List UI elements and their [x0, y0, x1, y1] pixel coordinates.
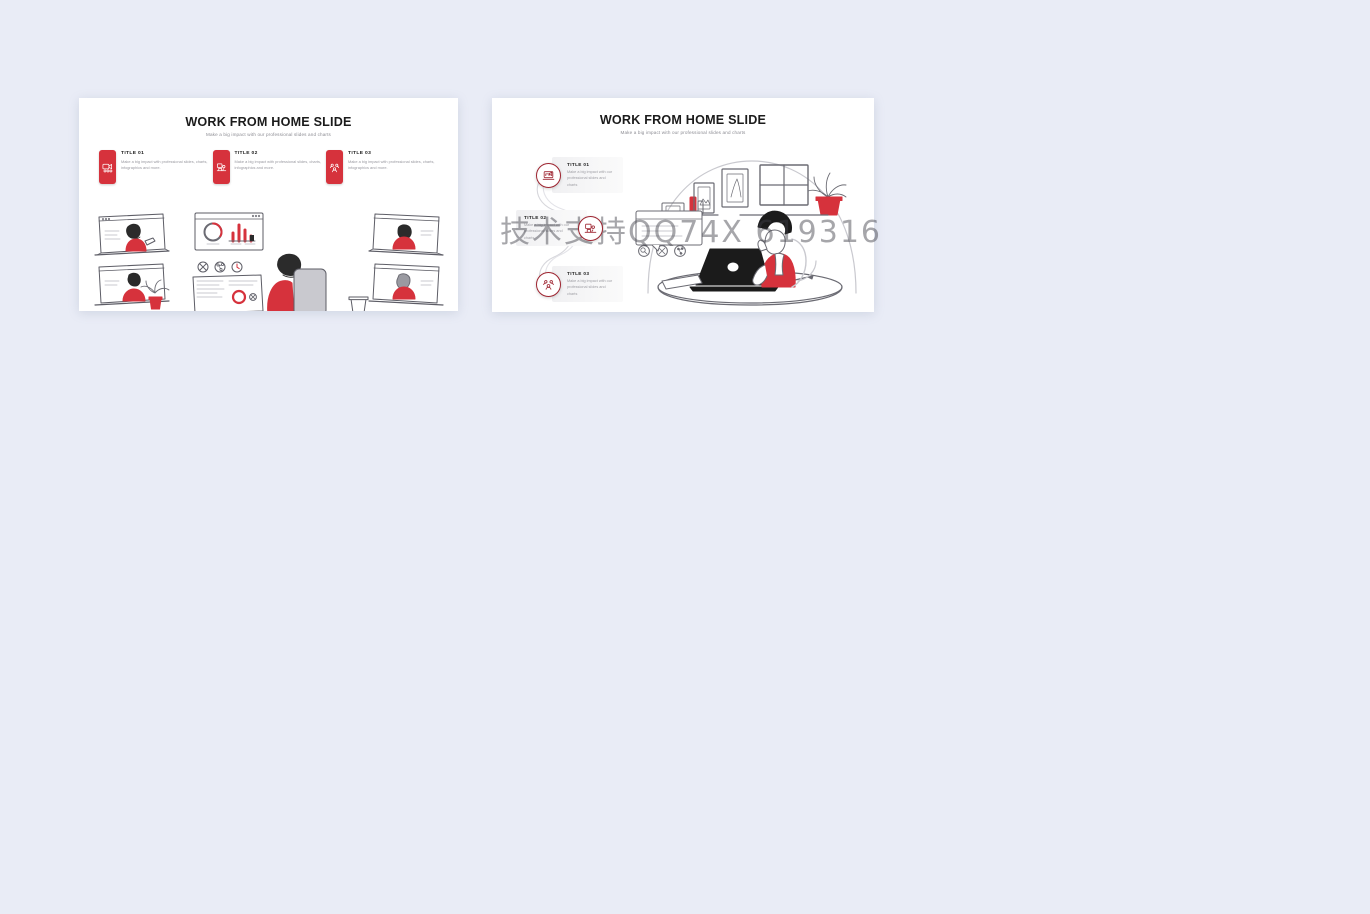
- slide-1-card-1-text: TITLE 01 Make a big impact with professi…: [121, 150, 209, 184]
- video-call-grid-illustration: [93, 211, 445, 311]
- slide-1-cards-row: TITLE 01 Make a big impact with professi…: [79, 150, 458, 184]
- slide-2-subtitle: Make a big impact with our professional …: [492, 130, 874, 135]
- home-office-person-illustration: [632, 153, 868, 312]
- screenshot-canvas: WORK FROM HOME SLIDE Make a big impact w…: [0, 0, 1370, 914]
- slide-1-card-3-body: Make a big impact with professional slid…: [348, 159, 436, 172]
- team-meeting-icon: [536, 272, 561, 297]
- slide-1-card-3[interactable]: TITLE 03 Make a big impact with professi…: [326, 150, 438, 184]
- video-conference-icon: [99, 150, 116, 184]
- slide-2-title: WORK FROM HOME SLIDE: [492, 113, 874, 127]
- slide-1-card-2-body: Make a big impact with professional slid…: [235, 159, 323, 172]
- slide-2-card-3-title: TITLE 03: [567, 271, 615, 276]
- slide-1-card-2-text: TITLE 02 Make a big impact with professi…: [235, 150, 323, 184]
- slide-1-card-2[interactable]: TITLE 02 Make a big impact with professi…: [213, 150, 325, 184]
- slide-1-card-1-title: TITLE 01: [121, 151, 209, 156]
- slide-2-card-1-panel: TITLE 01 Make a big impact with our prof…: [552, 157, 623, 193]
- slide-2-card-1-title: TITLE 01: [567, 162, 615, 167]
- slide-2-card-2-body: Make a big impact with our professional …: [524, 222, 572, 241]
- slide-1-title: WORK FROM HOME SLIDE: [79, 115, 458, 129]
- slide-2-card-2-panel: TITLE 02 Make a big impact with our prof…: [516, 210, 587, 246]
- slide-2-card-1-body: Make a big impact with our professional …: [567, 169, 615, 188]
- slide-1-card-1-body: Make a big impact with professional slid…: [121, 159, 209, 172]
- team-meeting-icon: [326, 150, 343, 184]
- slide-2-card-3-body: Make a big impact with our professional …: [567, 278, 615, 297]
- slide-1-card-1[interactable]: TITLE 01 Make a big impact with professi…: [99, 150, 211, 184]
- laptop-presentation-icon: [536, 163, 561, 188]
- slide-1-subtitle: Make a big impact with our professional …: [79, 132, 458, 137]
- slide-1-card-2-title: TITLE 02: [235, 151, 323, 156]
- desk-work-icon: [213, 150, 230, 184]
- slide-2[interactable]: WORK FROM HOME SLIDE Make a big impact w…: [492, 98, 874, 312]
- slide-2-card-2[interactable]: TITLE 02 Make a big impact with our prof…: [516, 210, 603, 246]
- slide-2-card-1[interactable]: TITLE 01 Make a big impact with our prof…: [536, 157, 623, 193]
- slide-1[interactable]: WORK FROM HOME SLIDE Make a big impact w…: [79, 98, 458, 311]
- slide-2-card-2-title: TITLE 02: [524, 215, 572, 220]
- slide-2-card-3-panel: TITLE 03 Make a big impact with our prof…: [552, 266, 623, 302]
- slide-2-card-3[interactable]: TITLE 03 Make a big impact with our prof…: [536, 266, 623, 302]
- desk-work-icon: [578, 216, 603, 241]
- slide-1-card-3-text: TITLE 03 Make a big impact with professi…: [348, 150, 436, 184]
- slide-1-card-3-title: TITLE 03: [348, 151, 436, 156]
